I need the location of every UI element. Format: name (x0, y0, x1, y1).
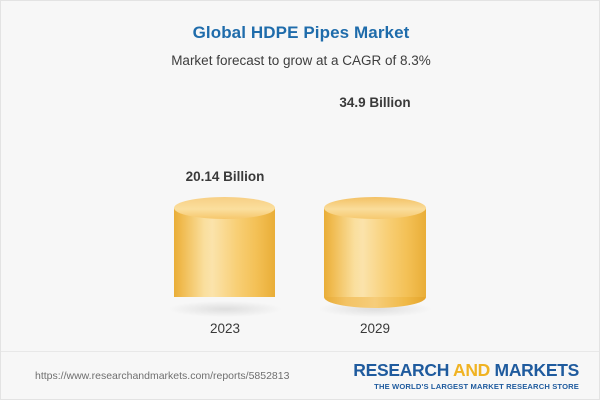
axis-label-2029: 2029 (298, 321, 452, 336)
axis-label-2023: 2023 (148, 321, 302, 336)
bar-value-label-2029: 34.9 Billion (298, 95, 452, 110)
bar-2023[interactable] (174, 197, 275, 319)
footer: https://www.researchandmarkets.com/repor… (1, 351, 600, 400)
bar-2029-segment-base (324, 208, 426, 297)
bar-2029[interactable] (324, 125, 426, 319)
bar-value-label-2023: 20.14 Billion (148, 169, 302, 184)
brand-logo[interactable]: RESEARCH AND MARKETS THE WORLD'S LARGEST… (353, 360, 579, 391)
bar-2029-top-cap (324, 125, 426, 147)
bar-2023-segment-base (174, 208, 275, 297)
brand-logo-tagline: THE WORLD'S LARGEST MARKET RESEARCH STOR… (353, 382, 579, 391)
brand-logo-and: AND (453, 360, 490, 380)
brand-logo-wordmark: RESEARCH AND MARKETS (353, 360, 579, 381)
brand-logo-research: RESEARCH (353, 360, 453, 380)
report-url[interactable]: https://www.researchandmarkets.com/repor… (35, 370, 289, 382)
chart-card: Global HDPE Pipes Market Market forecast… (0, 0, 600, 400)
brand-logo-markets: MARKETS (490, 360, 579, 380)
plot-area: 20.14 Billion 34.9 Billion 2023 (1, 1, 600, 351)
bar-2023-top-cap (174, 197, 275, 219)
